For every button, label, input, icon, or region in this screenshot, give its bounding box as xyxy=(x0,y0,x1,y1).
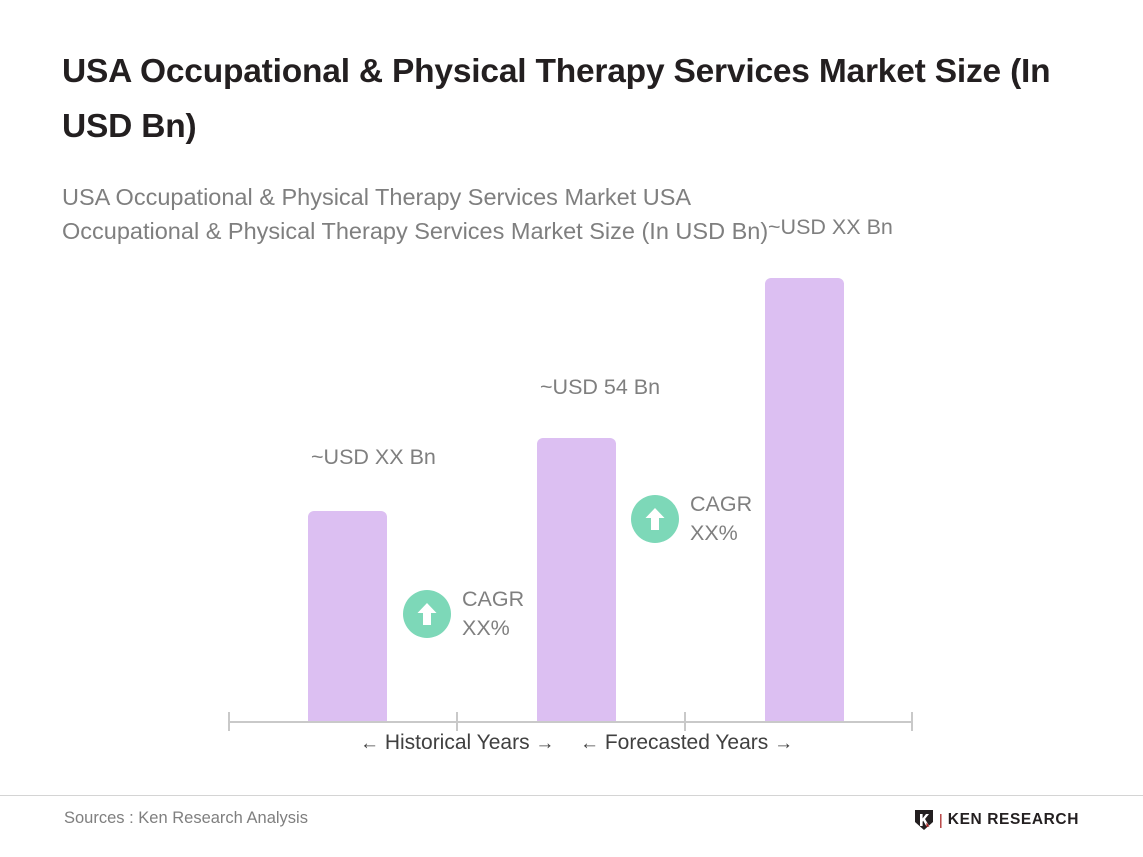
cagr-annotation-1-label: CAGR XX% xyxy=(462,585,524,643)
right-arrow-icon: → xyxy=(535,733,554,754)
axis-tick-0 xyxy=(228,712,230,731)
left-arrow-icon: ← xyxy=(580,733,599,754)
arrow-up-icon xyxy=(631,495,679,543)
logo-separator: | xyxy=(939,812,943,829)
bar-3 xyxy=(765,278,844,722)
axis-tick-2 xyxy=(684,712,686,731)
logo-text: KEN RESEARCH xyxy=(948,811,1079,829)
period-label-forecasted: ← Forecasted Years → xyxy=(580,731,793,755)
source-note: Sources : Ken Research Analysis xyxy=(64,809,308,828)
cagr-annotation-1: CAGR XX% xyxy=(403,585,524,643)
bar-2-value-label: ~USD 54 Bn xyxy=(540,373,660,402)
bar-1 xyxy=(308,511,387,722)
axis-tick-1 xyxy=(456,712,458,731)
right-arrow-icon: → xyxy=(774,733,793,754)
cagr-annotation-2: CAGR XX% xyxy=(631,490,752,548)
footer-divider xyxy=(0,795,1143,796)
left-arrow-icon: ← xyxy=(360,733,379,754)
bar-1-value-label: ~USD XX Bn xyxy=(311,443,436,472)
arrow-up-icon xyxy=(403,590,451,638)
bar-chart: ~USD XX Bn ~USD 54 Bn ~USD XX Bn CAGR XX… xyxy=(0,0,1143,790)
slide-canvas: USA Occupational & Physical Therapy Serv… xyxy=(0,0,1143,857)
x-axis-line xyxy=(228,721,913,723)
period-label-historical: ← Historical Years → xyxy=(360,731,554,755)
axis-tick-3 xyxy=(911,712,913,731)
bar-2 xyxy=(537,438,616,722)
cagr-annotation-2-label: CAGR XX% xyxy=(690,490,752,548)
bar-3-value-label: ~USD XX Bn xyxy=(768,213,893,242)
ken-research-shield-icon xyxy=(914,809,934,831)
period-label-historical-text: Historical Years xyxy=(385,731,530,754)
ken-research-logo: | KEN RESEARCH xyxy=(914,809,1079,831)
period-label-forecasted-text: Forecasted Years xyxy=(605,731,768,754)
